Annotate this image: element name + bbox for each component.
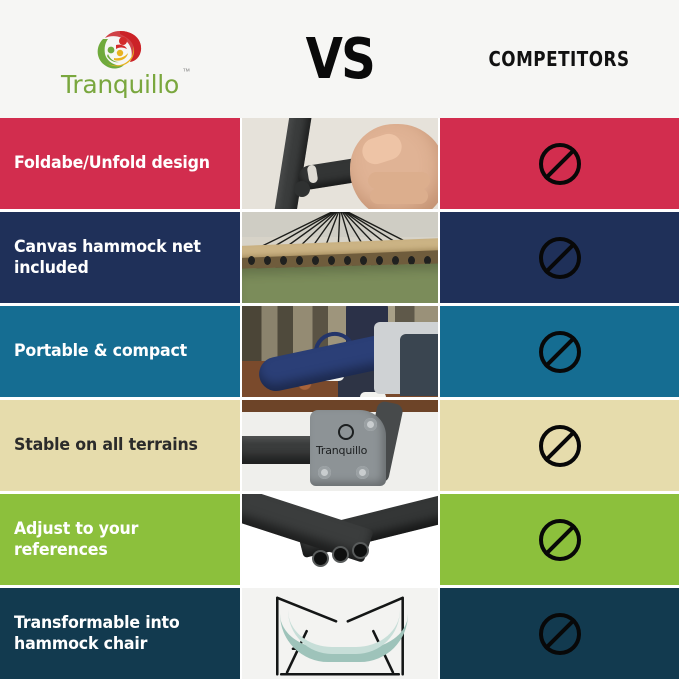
competitor-cell-5	[440, 588, 679, 679]
competitor-cell-3	[440, 400, 679, 491]
tranquillo-logo-icon	[89, 26, 151, 74]
feature-cell-3: Stable on all terrains	[0, 400, 240, 491]
feature-cell-2: Portable & compact	[0, 306, 240, 397]
competitor-cell-2	[440, 306, 679, 397]
table-row: Stable on all terrainsTranquillo	[0, 400, 679, 494]
hand-folding-latch-photo	[240, 118, 440, 209]
vs-divider: VS	[240, 27, 440, 92]
feature-cell-1: Canvas hammock net included	[0, 212, 240, 303]
chart-header: Tranquillo ™ VS COMPETITORS	[0, 0, 679, 118]
feature-label: Transformable into hammock chair	[14, 613, 213, 653]
trademark-symbol: ™	[182, 68, 190, 76]
brand-logo: Tranquillo ™	[0, 22, 240, 97]
table-row: Transformable into hammock chair	[0, 588, 679, 679]
prohibition-icon	[539, 237, 581, 279]
feature-label: Canvas hammock net included	[14, 237, 213, 277]
brand-name: Tranquillo	[61, 70, 179, 99]
feature-label: Adjust to your references	[14, 519, 213, 559]
table-row: Canvas hammock net included	[0, 212, 679, 306]
olive-canvas-hammock-photo	[240, 212, 440, 303]
feature-label: Portable & compact	[14, 341, 187, 361]
prohibition-icon	[539, 331, 581, 373]
vs-label: VS	[306, 27, 375, 92]
adjustment-holes-frame-photo	[240, 494, 440, 585]
feature-label: Foldabe/Unfold design	[14, 153, 210, 173]
competitor-cell-1	[440, 212, 679, 303]
person-carrying-bag-forest-photo	[240, 306, 440, 397]
competitor-cell-4	[440, 494, 679, 585]
prohibition-icon	[539, 143, 581, 185]
competitors-label: COMPETITORS	[489, 47, 630, 71]
table-row: Adjust to your references	[0, 494, 679, 588]
competitors-header: COMPETITORS	[440, 47, 679, 71]
feature-cell-5: Transformable into hammock chair	[0, 588, 240, 679]
table-row: Foldabe/Unfold design	[0, 118, 679, 212]
prohibition-icon	[539, 519, 581, 561]
feature-cell-4: Adjust to your references	[0, 494, 240, 585]
table-row: Portable & compact	[0, 306, 679, 400]
comparison-rows: Foldabe/Unfold designCanvas hammock net …	[0, 118, 679, 679]
brand-wordmark: Tranquillo ™	[61, 72, 179, 97]
comparison-chart: Tranquillo ™ VS COMPETITORS Foldabe/Unfo…	[0, 0, 679, 679]
feature-cell-0: Foldabe/Unfold design	[0, 118, 240, 209]
prohibition-icon	[539, 425, 581, 467]
prohibition-icon	[539, 613, 581, 655]
competitor-cell-0	[440, 118, 679, 209]
hammock-chair-stand-photo	[240, 588, 440, 679]
feature-label: Stable on all terrains	[14, 435, 198, 455]
tranquillo-branded-bracket-photo: Tranquillo	[240, 400, 440, 491]
